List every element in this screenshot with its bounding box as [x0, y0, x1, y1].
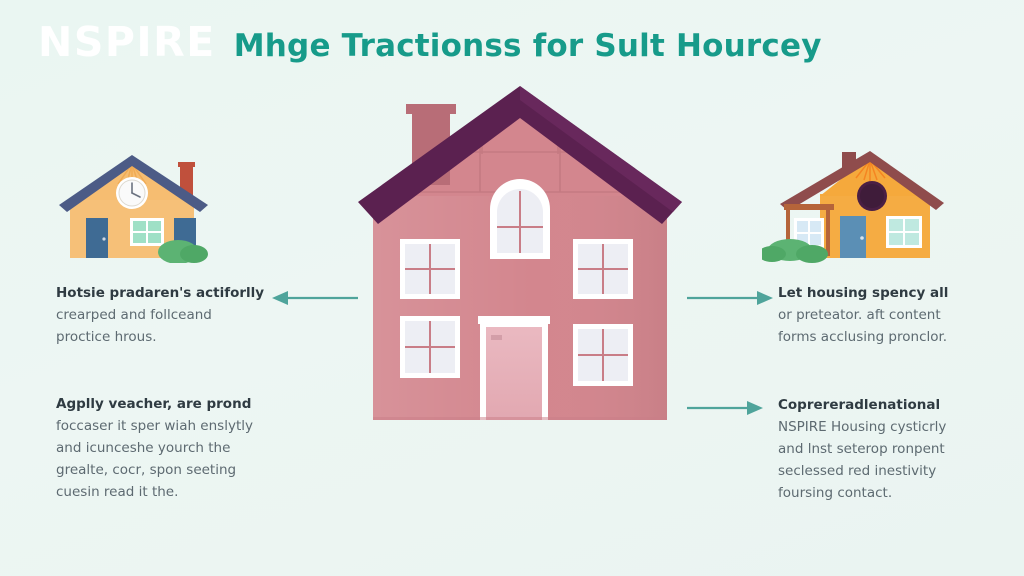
right-block-2-line-2: and lnst seterop ronpent [778, 439, 1003, 461]
infographic-canvas: NSPIRE Mhge Tractionss for Sult Hourcey [0, 0, 1024, 576]
right-block-1-line-1: or preteator. aft content [778, 305, 1003, 327]
left-block-2-heading: Agplly veacher, are prond [56, 394, 281, 414]
left-text-block-2: Agplly veacher, are prond foccaser it sp… [56, 394, 281, 504]
arrow-right-block-1 [685, 288, 775, 308]
page-title: NSPIRE Mhge Tractionss for Sult Hourcey [38, 22, 822, 63]
right-block-1-line-2: forms acclusing pronclor. [778, 327, 1003, 349]
right-block-2-line-1: NSPIRE Housing cysticrly [778, 417, 1003, 439]
right-block-2-line-4: foursing contact. [778, 483, 1003, 505]
left-block-2-line-3: grealte, cocr, spon seeting [56, 460, 281, 482]
left-block-2-line-2: and icunceshe yourch the [56, 438, 281, 460]
arrow-right-block-2 [685, 398, 765, 418]
right-house-illustration [762, 138, 962, 263]
arrow-left-block-1 [270, 288, 360, 308]
left-block-2-line-1: foccaser it sper wiah enslytly [56, 416, 281, 438]
right-text-block-1: Let housing spency all or preteator. aft… [778, 283, 1003, 349]
left-text-block-1: Hotsie pradaren's actiforlly crearped an… [56, 283, 281, 349]
right-block-1-heading: Let housing spency all [778, 283, 1003, 303]
main-house-illustration [330, 84, 700, 429]
left-block-2-line-4: cuesin read it the. [56, 482, 281, 504]
brand-wordmark: NSPIRE [38, 22, 216, 63]
left-house-illustration [56, 138, 256, 263]
left-block-1-line-1: crearped and follceand [56, 305, 281, 327]
right-block-2-line-3: seclessed red inestivity [778, 461, 1003, 483]
title-text: Mhge Tractionss for Sult Hourcey [234, 31, 822, 62]
right-block-2-heading: Coprereradlenational [778, 395, 1003, 415]
left-block-1-heading: Hotsie pradaren's actiforlly [56, 283, 281, 303]
right-text-block-2: Coprereradlenational NSPIRE Housing cyst… [778, 395, 1003, 505]
left-block-1-line-2: proctice hrous. [56, 327, 281, 349]
